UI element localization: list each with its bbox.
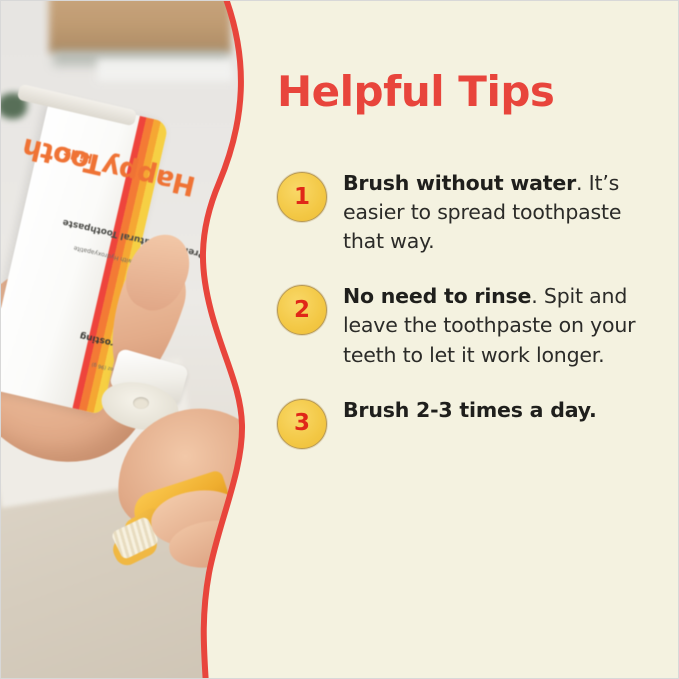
tip-number-badge: 1 [277,172,327,222]
tip-number-badge: 3 [277,399,327,449]
tips-panel: Helpful Tips 1 Brush without water. It’s… [263,1,679,679]
tip-text: No need to rinse. Spit and leave the too… [343,282,679,369]
tube-cap-nozzle [133,397,149,409]
list-item: 1 Brush without water. It’s easier to sp… [263,169,679,256]
background-wooden-crate [49,1,231,53]
helpful-tips-infographic: HappyTooth kids Premium Natural Toothpas… [0,0,679,679]
tip-text: Brush 2-3 times a day. [343,396,679,425]
background-white-strip [97,59,233,81]
tip-text: Brush without water. It’s easier to spre… [343,169,679,256]
tips-list: 1 Brush without water. It’s easier to sp… [263,169,679,475]
tip-number-badge: 2 [277,285,327,335]
tip-lead: No need to rinse [343,284,531,308]
list-item: 3 Brush 2-3 times a day. [263,396,679,449]
tip-lead: Brush 2-3 times a day. [343,398,597,422]
tip-lead: Brush without water [343,171,576,195]
list-item: 2 No need to rinse. Spit and leave the t… [263,282,679,369]
page-title: Helpful Tips [277,71,677,113]
product-photo: HappyTooth kids Premium Natural Toothpas… [1,1,261,679]
